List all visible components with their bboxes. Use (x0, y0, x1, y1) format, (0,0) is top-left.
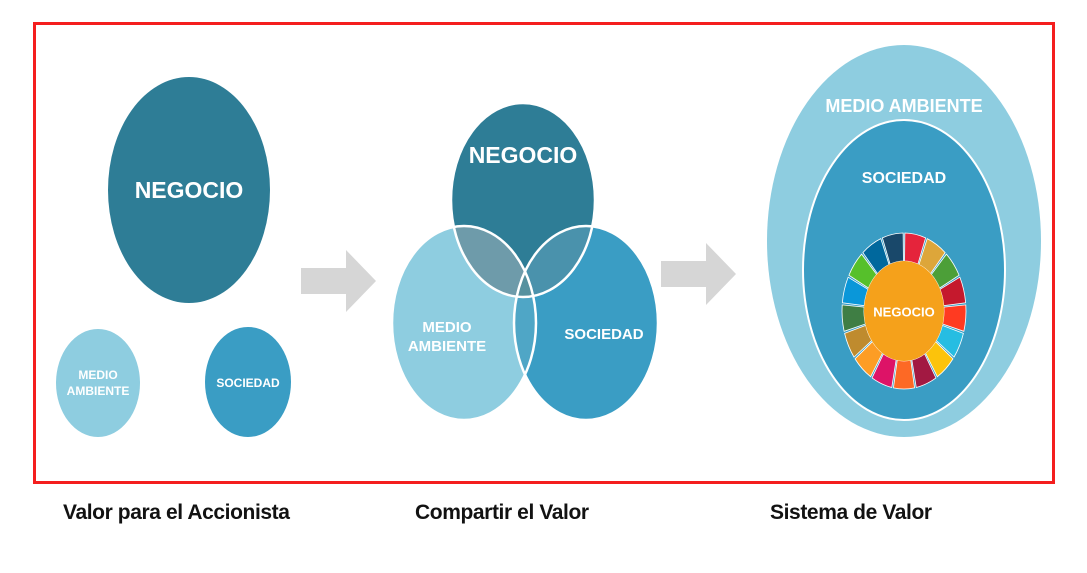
caption-row: Valor para el Accionista Compartir el Va… (33, 495, 1055, 555)
label-medio-2: MEDIO (422, 319, 472, 336)
label-negocio-1: NEGOCIO (135, 177, 244, 203)
caption-shareholder-value: Valor para el Accionista (63, 501, 290, 525)
caption-shared-value: Compartir el Valor (415, 501, 589, 525)
panel-shared-value: NEGOCIO MEDIO AMBIENTE SOCIEDAD (392, 103, 658, 420)
arrow-right-icon (301, 250, 376, 312)
panel-value-system: MEDIO AMBIENTE SOCIEDAD NEGOCIO (767, 45, 1041, 437)
arrow-2 (661, 243, 736, 305)
arrow-1 (301, 250, 376, 312)
label-ambiente-2: AMBIENTE (408, 338, 486, 355)
label-medio-1: MEDIO (78, 368, 117, 382)
label-sociedad-3: SOCIEDAD (862, 170, 946, 187)
label-medio-ambiente-3: MEDIO AMBIENTE (825, 96, 982, 116)
caption-value-system: Sistema de Valor (770, 501, 932, 525)
label-sociedad-2: SOCIEDAD (564, 326, 643, 343)
sdg-segment-9 (893, 360, 914, 389)
panel-shareholder-value: NEGOCIO MEDIO AMBIENTE SOCIEDAD (56, 77, 291, 437)
ellipse-medio-ambiente-1 (56, 329, 140, 437)
label-ambiente-1: AMBIENTE (67, 384, 130, 398)
diagram-canvas: NEGOCIO MEDIO AMBIENTE SOCIEDAD (36, 25, 1052, 481)
label-sociedad-1: SOCIEDAD (216, 376, 280, 390)
diagram-frame: NEGOCIO MEDIO AMBIENTE SOCIEDAD (33, 22, 1055, 484)
infographic-page: NEGOCIO MEDIO AMBIENTE SOCIEDAD (0, 0, 1087, 573)
label-negocio-3: NEGOCIO (873, 304, 934, 319)
arrow-right-icon (661, 243, 736, 305)
label-negocio-2: NEGOCIO (469, 142, 578, 168)
